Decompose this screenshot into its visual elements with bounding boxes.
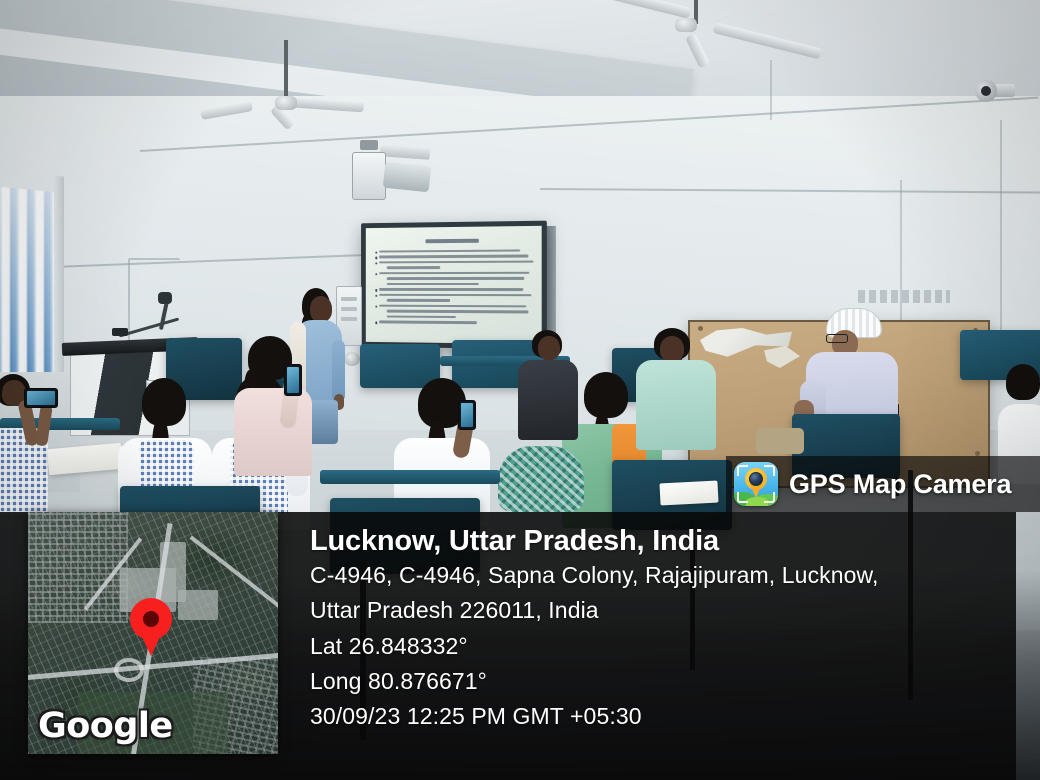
fan-blade [200, 100, 253, 120]
window [0, 186, 60, 393]
smartphone [24, 388, 58, 408]
hair [1006, 364, 1040, 400]
slide-bullet-row [373, 272, 533, 275]
window-glare [0, 186, 57, 393]
slide-bullet-row [373, 277, 533, 280]
slide-bullet-row [373, 315, 533, 319]
desk [320, 470, 500, 484]
gps-map-camera-photo: GPS Map Camera Google Lucknow, Uttar Pra… [0, 0, 1040, 780]
viewfinder-bracket-icon [764, 492, 775, 503]
torso [518, 360, 578, 440]
microphone-head [158, 292, 172, 304]
cctv-camera-icon [975, 78, 1015, 104]
wall-panel-joint [900, 180, 902, 330]
slide-bullet-row [373, 261, 533, 264]
fan-blade [286, 96, 365, 112]
fan-blade [713, 22, 822, 59]
wall-panel-joint [1000, 120, 1002, 350]
arm [35, 403, 53, 446]
student-with-phone [0, 374, 70, 514]
hair [584, 372, 628, 418]
torso [234, 388, 312, 476]
smartphone [284, 364, 302, 396]
fan-rod [284, 40, 288, 100]
slide-bullet-row [373, 294, 533, 297]
map-pin-icon [130, 598, 172, 656]
patterned-bag [498, 446, 584, 512]
projector-mount [360, 140, 378, 150]
notebook [659, 480, 718, 505]
torn-paper [764, 346, 800, 368]
fan-hub [675, 18, 697, 32]
google-watermark: Google [38, 706, 173, 746]
camera-lens-icon [749, 472, 763, 486]
projector-lens [383, 162, 431, 193]
viewfinder-bracket-icon [764, 465, 775, 476]
wall-signage [858, 290, 950, 303]
slide-bullet-row [373, 283, 533, 285]
slide-bullet-row [373, 266, 533, 269]
gps-map-camera-badge: GPS Map Camera [726, 456, 1040, 512]
location-details: Lucknow, Uttar Pradesh, India C-4946, C-… [310, 524, 1010, 734]
smartphone [458, 400, 476, 430]
place-name: Lucknow, Uttar Pradesh, India [310, 524, 1010, 558]
attendee-with-phone [238, 336, 322, 476]
attendee [636, 328, 718, 450]
viewfinder-bracket-icon [737, 465, 748, 476]
slide-bullet-row [373, 255, 533, 258]
timestamp-value: 30/09/23 12:25 PM GMT +05:30 [310, 699, 1010, 734]
ceiling-fan [186, 40, 386, 130]
app-brand-label: GPS Map Camera [789, 469, 1011, 500]
ceiling-projector [352, 146, 430, 200]
fan-hub [275, 96, 297, 110]
head [660, 336, 684, 362]
slide-bullet-row [373, 299, 533, 302]
longitude-value: Long 80.876671° [310, 664, 1010, 699]
address-line-1: C-4946, C-4946, Sapna Colony, Rajajipura… [310, 558, 1010, 593]
ceiling-fan [620, 0, 880, 88]
gps-map-camera-app-icon [734, 462, 778, 506]
head [310, 296, 332, 322]
cctv-lens [981, 86, 991, 96]
fan-blade [685, 33, 710, 68]
slide-bullet-row [373, 304, 533, 307]
roundabout [114, 658, 144, 682]
head [538, 336, 560, 360]
bag [756, 428, 804, 454]
slide-bullet-row [373, 310, 533, 313]
window-frame [54, 175, 64, 394]
projector-arm [380, 144, 431, 159]
latitude-value: Lat 26.848332° [310, 629, 1010, 664]
map-thumbnail[interactable]: Google [28, 512, 278, 754]
slide-content [366, 226, 542, 344]
slide-bullet-row [373, 288, 533, 291]
torso [636, 360, 716, 450]
urban-texture [28, 512, 128, 623]
arm [332, 340, 345, 402]
slide-bullet-row [373, 321, 533, 325]
address-line-2: Uttar Pradesh 226011, India [310, 593, 1010, 628]
attendee [518, 330, 580, 440]
viewfinder-bracket-icon [737, 492, 748, 503]
projector-body [352, 152, 386, 200]
slide-bullet-row [373, 249, 533, 253]
slide-title-bar [425, 239, 478, 244]
eyeglasses [826, 334, 848, 343]
